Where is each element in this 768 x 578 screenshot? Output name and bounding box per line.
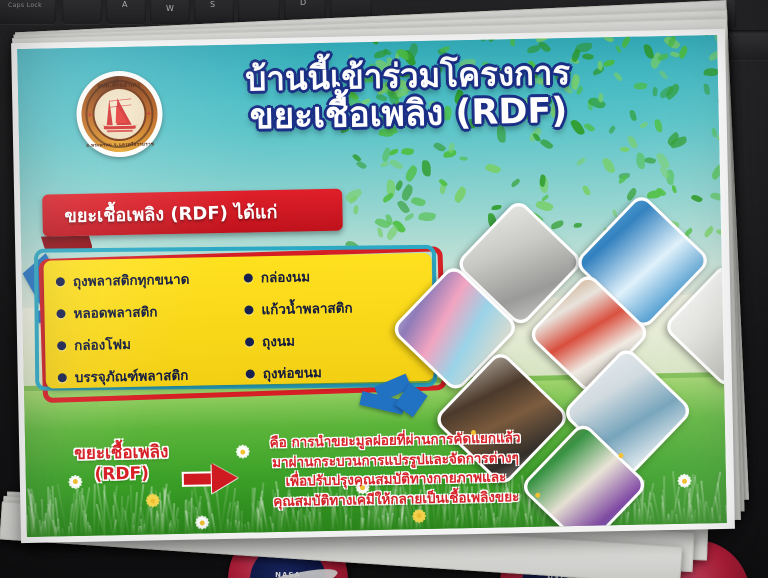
leaf-icon [691,193,703,204]
leaf-icon [702,225,715,238]
leaf-icon [707,50,722,62]
list-item: กล่องโฟม [57,331,239,357]
list-item-label: ถุงห่อขนม [263,361,323,384]
key-label-a: A [122,0,128,9]
leaf-icon [521,35,537,40]
ribbon-label: ขยะเชื้อเพลิง (RDF) ได้แก่ [42,196,277,230]
leaf-icon [510,178,521,188]
leaf-icon [400,147,413,156]
rdf-definition-ribbon: ขยะเชื้อเพลิง (RDF) ได้แก่ [42,189,343,237]
leaf-icon [370,36,378,46]
leaf-icon [486,35,504,42]
leaf-icon [713,35,726,47]
list-column-left: ถุงพลาสติกทุกขนาดหลอดพลาสติกกล่องโฟมบรรจ… [56,267,240,383]
list-item-label: กล่องนม [261,265,311,288]
leaf-icon [599,35,614,44]
screenshot-scene: Caps Lock A W S D 9 NASA NASA [0,0,768,578]
leaf-icon [704,35,713,37]
leaf-icon [620,146,630,153]
leaf-icon [671,184,676,192]
list-item-label: ถุงนม [262,330,295,353]
grass-blade [662,489,665,524]
grass-blade [124,510,130,535]
leaf-icon [404,164,420,182]
leaf-icon [353,205,361,215]
key-label-d: D [300,0,307,7]
leaf-icon [615,45,622,54]
leaf-icon [410,196,426,209]
emblem-top-text: อบต.ท้ายสำเภา [81,79,157,91]
daisy-flower-icon [411,508,425,522]
list-item: หลอดพลาสติก [56,299,238,325]
leaf-icon [389,157,404,171]
rdf-poster-card: อบต.ท้ายสำเภา อ.พระพรหม จ.นครศรีธรรมราช … [11,29,735,543]
leaf-icon [551,220,565,230]
leaf-icon [644,155,657,164]
leaf-icon [491,205,501,211]
municipality-emblem: อบต.ท้ายสำเภา อ.พระพรหม จ.นครศรีธรรมราช … [76,70,164,158]
bullet-icon [56,309,65,318]
leaf-icon [636,153,646,170]
footer-paragraph: คือ การนำขยะมูลฝอยที่ผ่านการคัดแยกแล้วมา… [215,428,576,513]
list-item: กล่องนม [244,263,426,289]
list-item-label: ถุงพลาสติกทุกขนาด [73,268,190,292]
leaf-icon [538,40,552,54]
leaf-icon [709,191,724,203]
leaf-icon [478,35,486,43]
leaf-icon [655,119,663,133]
list-item-label: แก้วน้ำพลาสติก [261,296,353,320]
leaf-icon [576,157,587,166]
leaf-icon [485,162,502,176]
bullet-icon [245,337,254,346]
list-item: ถุงพลาสติกทุกขนาด [56,267,238,293]
list-item-label: หลอดพลาสติก [73,300,157,324]
leaf-icon [540,137,554,151]
leaf-icon [651,87,658,97]
leaf-icon [404,213,415,222]
list-item: บรรจุภัณฑ์พลาสติก [58,363,240,389]
leaf-icon [717,94,727,104]
leaf-icon [575,43,592,53]
leaf-icon [356,160,368,171]
leaf-icon [716,228,727,238]
leaf-icon [703,67,719,77]
daisy-flower-icon [195,516,209,530]
leaf-icon [574,222,583,227]
grass-blade [725,505,727,523]
leaf-icon [659,69,669,80]
grass-blade [93,483,96,535]
leaf-icon [373,35,385,40]
panel-body: ถุงพลาสติกทุกขนาดหลอดพลาสติกกล่องโฟมบรรจ… [43,253,433,389]
bullet-icon [246,369,255,378]
key-label-caps-lock: Caps Lock [8,2,42,9]
leaf-icon [535,198,554,213]
leaf-icon [510,36,516,46]
leaf-icon [655,151,670,170]
list-item: แก้วน้ำพลาสติก [244,295,426,321]
daisy-flower-icon [677,474,691,488]
leaf-icon [380,161,389,167]
list-item-label: กล่องโฟม [74,333,131,356]
poster-headline: บ้านนี้เข้าร่วมโครงการ ขยะเชื้อเพลิง (RD… [168,54,649,138]
grass-blade [240,510,242,532]
leaf-icon [382,192,396,203]
leaf-icon [601,157,615,175]
grass-blade [229,522,231,533]
leaf-icon [703,84,709,95]
grass-blade [690,515,692,524]
poster-artwork: อบต.ท้ายสำเภา อ.พระพรหม จ.นครศรีธรรมราช … [17,35,727,537]
leaf-icon [422,160,431,176]
daisy-flower-icon [145,493,159,507]
leaf-icon [582,185,590,196]
leaf-icon [418,211,436,223]
leaf-icon [397,199,410,215]
bullet-icon [244,273,253,282]
bullet-icon [56,277,65,286]
leaf-icon [620,35,632,48]
leaf-icon [657,54,669,62]
leaf-icon [459,155,468,161]
key-label-w: W [166,4,174,13]
junk-boat-icon [97,95,142,136]
bullet-icon [57,341,66,350]
rdf-items-panel: ถุงพลาสติกทุกขนาดหลอดพลาสติกกล่องโฟมบรรจ… [37,247,440,395]
list-item-label: บรรจุภัณฑ์พลาสติก [75,364,189,388]
leaf-icon [709,163,726,180]
leaf-icon [377,227,383,237]
leaf-icon [452,186,469,204]
leaf-icon [440,45,450,52]
key-label-s: S [210,0,215,9]
bullet-icon [244,305,253,314]
leaf-icon [716,130,727,144]
bullet-icon [58,373,67,382]
